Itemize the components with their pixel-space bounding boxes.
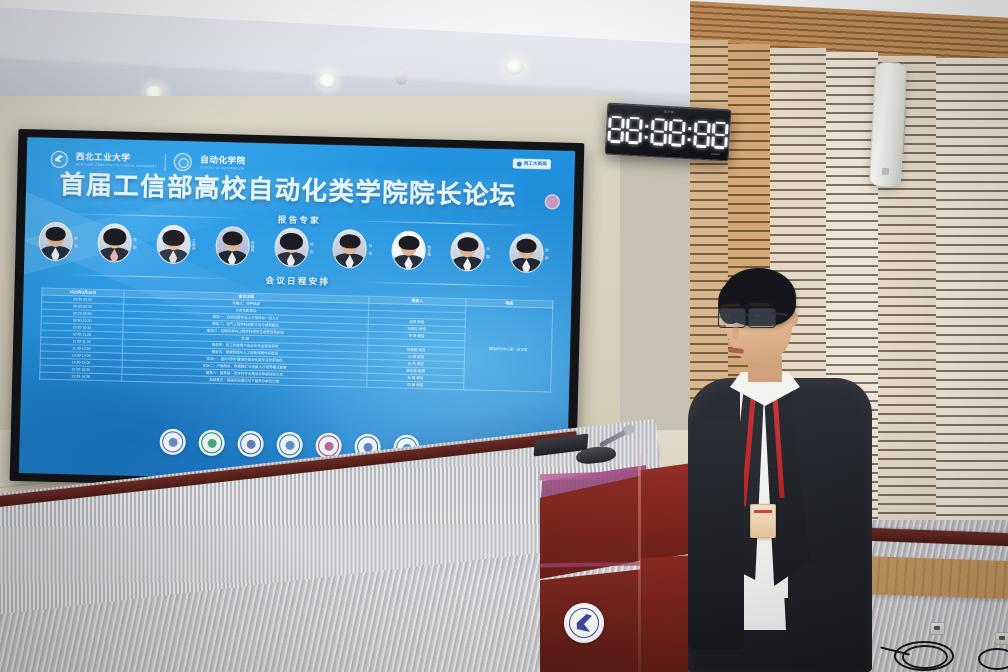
clock-digit (668, 119, 685, 147)
expert-name: 李 莉 (133, 238, 138, 250)
expert-name: 王晓芳 (192, 239, 197, 250)
expert-item: 刘 燕 (274, 227, 324, 267)
clock-digit (650, 118, 667, 146)
expert-name: 陈建国 (251, 241, 256, 252)
school-seal-icon (174, 153, 192, 171)
eyeglasses-lens-left (718, 308, 746, 328)
watermark-dot-icon (517, 161, 522, 166)
sponsor-seal-icon (198, 430, 225, 457)
expert-item: 杨志强 (391, 230, 441, 270)
clock-indicator-icon (711, 153, 720, 155)
screen-host-logos: 西北工业大学 NORTHWESTERN POLYTECHNICAL UNIVER… (51, 150, 246, 173)
expert-item: 张 伟 (333, 229, 383, 269)
agenda-table: 2023年3月25日 会议议程 报告人 地点 08:30-09:00开幕式：领导… (39, 288, 553, 393)
floor-cable (978, 648, 1008, 670)
cell-time: 15:30-16:00 (40, 372, 122, 381)
expert-item: 周 鹏 (509, 233, 559, 273)
podium-emblem-icon (564, 603, 604, 643)
expert-photo (97, 223, 132, 263)
clock-digit (625, 116, 642, 144)
watermark-text: 西工大新闻 (524, 161, 547, 168)
expert-name: 赵 军 (74, 236, 79, 248)
expert-item: 孙 磊 (450, 232, 500, 272)
university-name-en: NORTHWESTERN POLYTECHNICAL UNIVERSITY (76, 162, 157, 168)
clock-digit (607, 115, 624, 143)
expert-photo (391, 230, 426, 270)
expert-item: 李 莉 (97, 223, 147, 263)
expert-name: 周 鹏 (545, 248, 550, 260)
clock-brand: 电子钟 (664, 110, 675, 115)
expert-item: 陈建国 (215, 226, 265, 266)
expert-photo (274, 227, 309, 267)
wood-panel-column (936, 58, 1008, 600)
wall-outlet-icon (930, 622, 945, 635)
digital-clock: 电子钟 (605, 103, 732, 162)
school-name: 自动化学院 (200, 156, 246, 166)
presenter (690, 268, 870, 672)
podium-corner-edge (638, 455, 641, 672)
badge-card (750, 504, 776, 538)
expert-name: 张 伟 (368, 243, 373, 255)
wall-speaker-icon (869, 61, 907, 188)
presenter-arm-left (688, 418, 744, 650)
wall-outlet-icon (995, 632, 1008, 645)
clock-colon (643, 117, 649, 144)
cell-location: 国际会议中心第一会议室 (464, 306, 553, 392)
expert-photo (38, 221, 73, 261)
presenter-mouth (728, 347, 744, 354)
expert-photo (333, 229, 368, 269)
eyeglasses-bridge (744, 314, 749, 316)
screen-watermark: 西工大新闻 (513, 158, 551, 169)
expert-photo (156, 224, 191, 264)
ceiling-sensor-icon (397, 71, 406, 83)
expert-photo (215, 226, 250, 266)
sponsor-seal-icon (159, 429, 186, 456)
expert-name: 刘 燕 (309, 242, 314, 254)
expert-photo (509, 233, 544, 273)
expert-item: 王晓芳 (156, 224, 206, 264)
nwpu-seal-icon (51, 150, 68, 167)
forum-title: 首届工信部高校自动化类学院院长论坛 (48, 173, 528, 211)
expert-item: 赵 军 (38, 221, 88, 261)
title-badge-icon (545, 194, 560, 209)
clock-colon (686, 120, 692, 147)
clock-digit (711, 121, 728, 149)
sponsor-seal-icon (237, 431, 264, 458)
screen-content: 西北工业大学 NORTHWESTERN POLYTECHNICAL UNIVER… (19, 137, 575, 487)
clock-digit (693, 120, 710, 148)
floor-cable (894, 641, 954, 671)
school-name-en: SCHOOL OF AUTOMATION (200, 165, 246, 170)
presenter-nose (732, 326, 739, 340)
downlight-icon (319, 74, 336, 87)
university-name: 西北工业大学 (76, 152, 158, 163)
expert-photo (450, 232, 485, 272)
sponsor-seal-icon (276, 432, 303, 459)
expert-name: 孙 磊 (486, 246, 491, 258)
expert-name: 杨志强 (427, 245, 432, 256)
conference-hall-photo: 西北工业大学 NORTHWESTERN POLYTECHNICAL UNIVER… (0, 0, 1008, 672)
logo-divider (165, 153, 166, 170)
downlight-icon (506, 60, 523, 73)
